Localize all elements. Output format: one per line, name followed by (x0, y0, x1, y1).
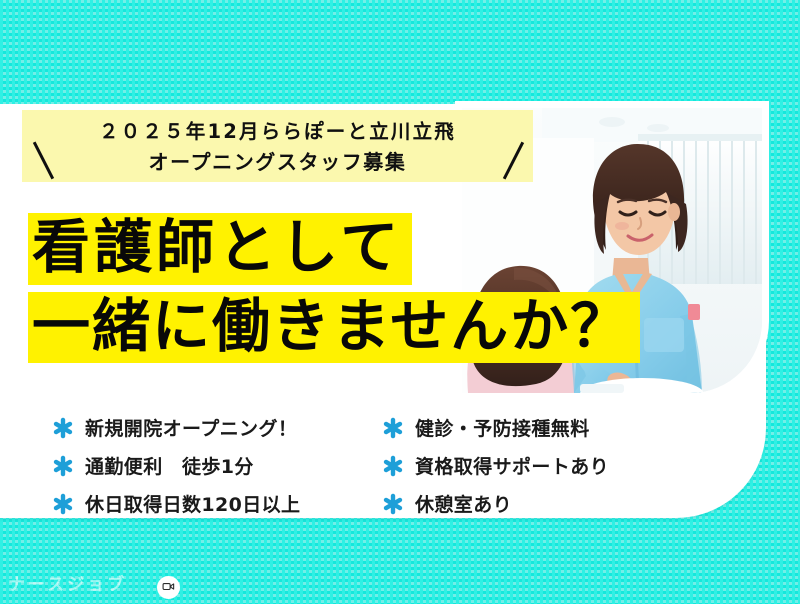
list-item-label: 休日取得日数120日以上 (85, 490, 300, 517)
list-item: 休日取得日数120日以上 (52, 490, 382, 517)
flower-icon (52, 455, 74, 477)
list-item: 健診・予防接種無料 (382, 414, 712, 441)
banner-line-1: ２０２５年12月ららぽーと立川立飛 (22, 115, 533, 144)
list-item-label: 休憩室あり (415, 490, 512, 517)
opening-announcement-banner: ２０２５年12月ららぽーと立川立飛 オープニングスタッフ募集 (22, 110, 533, 182)
banner-line-2: オープニングスタッフ募集 (22, 146, 533, 175)
video-camera-icon (162, 578, 175, 597)
list-item-label: 資格取得サポートあり (415, 452, 609, 479)
list-item: 新規開院オープニング！ (52, 414, 382, 441)
watermark-text: ナースジョブ (8, 570, 127, 595)
headline-line-1: 看護師として (28, 213, 412, 285)
list-item: 休憩室あり (382, 490, 712, 517)
headline: 看護師として 一緒に働きませんか？ (28, 213, 640, 363)
list-item: 資格取得サポートあり (382, 452, 712, 479)
banner-canvas: ２０２５年12月ららぽーと立川立飛 オープニングスタッフ募集 看護師として 一緒… (0, 0, 800, 604)
flower-icon (382, 493, 404, 515)
video-camera-badge[interactable] (157, 576, 180, 599)
list-item-label: 新規開院オープニング！ (85, 414, 297, 441)
flower-icon (382, 455, 404, 477)
list-item: 通勤便利 徒歩1分 (52, 452, 382, 479)
flower-icon (382, 417, 404, 439)
headline-line-2: 一緒に働きませんか？ (28, 292, 640, 364)
flower-icon (52, 493, 74, 515)
list-item-label: 健診・予防接種無料 (415, 414, 590, 441)
list-item-label: 通勤便利 徒歩1分 (85, 452, 254, 479)
flower-icon (52, 417, 74, 439)
benefits-list: 新規開院オープニング！ 健診・予防接種無料 (52, 414, 732, 517)
